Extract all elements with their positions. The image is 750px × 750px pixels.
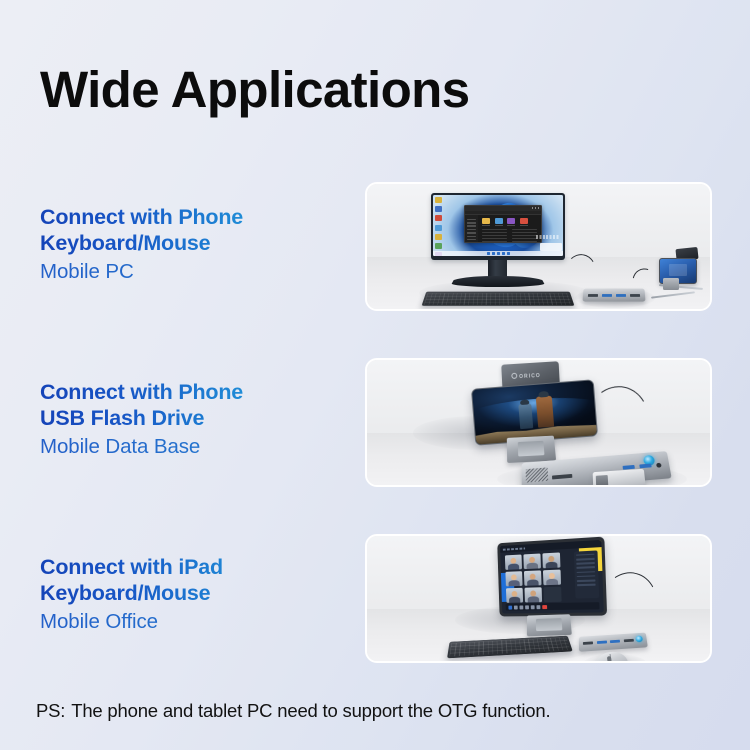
chat-line bbox=[577, 571, 596, 573]
chat-line bbox=[577, 575, 596, 577]
avatar bbox=[549, 572, 556, 578]
keyboard-keys bbox=[424, 293, 572, 305]
participant-body bbox=[546, 561, 558, 568]
file-row bbox=[512, 235, 537, 236]
file-column bbox=[482, 229, 507, 242]
folder-label bbox=[520, 225, 528, 226]
participant-body bbox=[527, 579, 539, 586]
activate-windows-watermark bbox=[536, 235, 560, 239]
file-explorer-window[interactable] bbox=[464, 205, 542, 243]
feature-3-line1: Connect with iPad bbox=[40, 554, 360, 580]
participant-tile[interactable] bbox=[543, 570, 561, 586]
avatar bbox=[529, 556, 535, 562]
feature-text-block-2: Connect with Phone USB Flash Drive Mobil… bbox=[40, 379, 360, 460]
footnote: PS:The phone and tablet PC need to suppo… bbox=[36, 700, 550, 722]
folder-label bbox=[495, 225, 503, 226]
participant-body bbox=[527, 562, 539, 569]
desktop-icon bbox=[435, 206, 442, 212]
tablet-stand bbox=[527, 614, 572, 636]
end-call-icon[interactable] bbox=[542, 605, 547, 608]
hub-port-audio-jack bbox=[656, 462, 662, 467]
folder-item[interactable] bbox=[507, 218, 515, 226]
chat-line bbox=[577, 562, 596, 564]
tablet-screen bbox=[500, 540, 603, 613]
desktop-icon bbox=[435, 225, 442, 231]
participant-body bbox=[546, 578, 558, 585]
participant-body bbox=[528, 596, 540, 603]
feature-2-subtitle: Mobile Data Base bbox=[40, 433, 360, 460]
more-options-icon[interactable] bbox=[537, 605, 540, 608]
sidebar-entry bbox=[467, 239, 476, 241]
character-figure bbox=[518, 403, 533, 429]
file-row bbox=[482, 238, 507, 239]
hub-port-hdmi bbox=[583, 641, 593, 645]
window-titlebar bbox=[465, 206, 541, 211]
explorer-sidebar[interactable] bbox=[465, 215, 478, 242]
folder-item[interactable] bbox=[495, 218, 503, 226]
keyboard[interactable] bbox=[422, 292, 575, 306]
participant-tile[interactable] bbox=[524, 554, 542, 570]
participant-body bbox=[509, 580, 521, 587]
monitor-base bbox=[450, 276, 546, 287]
avatar bbox=[511, 574, 517, 580]
sidebar-entry bbox=[467, 236, 476, 238]
file-row bbox=[512, 241, 537, 242]
folder-label bbox=[482, 225, 490, 226]
file-row bbox=[482, 229, 507, 230]
folder-icon bbox=[520, 218, 528, 224]
file-row bbox=[512, 238, 537, 239]
participant-tile[interactable] bbox=[525, 587, 543, 602]
hub-port-usb3 bbox=[639, 464, 651, 469]
stand-foot bbox=[663, 278, 679, 290]
avatar bbox=[510, 557, 516, 563]
folder-icon bbox=[507, 218, 515, 224]
feature-2-line1: Connect with Phone bbox=[40, 379, 360, 405]
desktop-icon bbox=[435, 215, 442, 221]
taskbar-start-icon[interactable] bbox=[487, 252, 490, 255]
participant-body bbox=[508, 563, 520, 570]
share-screen-icon[interactable] bbox=[531, 605, 534, 608]
chat-line bbox=[576, 553, 594, 556]
chat-line bbox=[577, 566, 596, 568]
desktop-icon bbox=[435, 243, 442, 249]
taskbar-search-icon[interactable] bbox=[492, 252, 495, 255]
feature-1-subtitle: Mobile PC bbox=[40, 258, 360, 285]
hub-port-hdmi bbox=[588, 294, 599, 297]
feature-text-block-1: Connect with Phone Keyboard/Mouse Mobile… bbox=[40, 204, 360, 285]
participant-tile-empty[interactable] bbox=[544, 587, 562, 602]
windows-taskbar[interactable] bbox=[433, 251, 563, 256]
participant-tile[interactable] bbox=[506, 588, 523, 603]
orico-brand-logo: ORICO bbox=[511, 371, 541, 380]
sidebar-entry bbox=[467, 232, 476, 234]
folder-item[interactable] bbox=[520, 218, 528, 226]
feature-3-subtitle: Mobile Office bbox=[40, 608, 360, 635]
footnote-prefix: PS: bbox=[36, 700, 65, 721]
avatar bbox=[512, 590, 518, 596]
explorer-content bbox=[478, 215, 541, 242]
system-tray-popup bbox=[540, 243, 562, 251]
phone-stand-base bbox=[507, 436, 556, 463]
mic-icon[interactable] bbox=[509, 606, 512, 609]
file-row bbox=[482, 241, 507, 242]
participant-body bbox=[509, 596, 521, 603]
feature-image-panel-1 bbox=[365, 182, 712, 311]
scene-monitor-desk bbox=[367, 184, 710, 309]
monitor-neck bbox=[488, 260, 507, 278]
feature-1-line2: Keyboard/Mouse bbox=[40, 230, 360, 256]
hub-ports bbox=[588, 293, 640, 297]
video-call-toolbar[interactable] bbox=[506, 602, 600, 610]
feature-image-panel-2: ORICO bbox=[365, 358, 712, 487]
hub-port-usb3 bbox=[597, 641, 607, 645]
desktop-icon bbox=[435, 234, 442, 240]
feature-3-line2: Keyboard/Mouse bbox=[40, 580, 360, 606]
sd-card-slot bbox=[552, 474, 572, 479]
footnote-text: The phone and tablet PC need to support … bbox=[71, 700, 550, 721]
file-row bbox=[482, 235, 507, 236]
desktop-icons bbox=[435, 197, 444, 256]
sidebar-entry bbox=[467, 222, 476, 224]
avatar bbox=[530, 590, 536, 596]
monitor-display bbox=[431, 193, 565, 260]
sidebar-entry bbox=[467, 229, 476, 231]
hub-port-usb3 bbox=[616, 294, 626, 297]
chat-panel[interactable] bbox=[574, 551, 599, 599]
hub-port-usb3 bbox=[602, 294, 612, 297]
feature-2-line2: USB Flash Drive bbox=[40, 405, 360, 431]
sidebar-entry bbox=[467, 225, 476, 227]
hub-vent-grill bbox=[526, 467, 548, 482]
feature-text-block-3: Connect with iPad Keyboard/Mouse Mobile … bbox=[40, 554, 360, 635]
page-title: Wide Applications bbox=[40, 62, 469, 117]
game-screen-content bbox=[472, 380, 597, 444]
taskbar-app-icon[interactable] bbox=[502, 252, 505, 255]
chat-line bbox=[577, 584, 596, 586]
taskbar-app-icon[interactable] bbox=[507, 252, 510, 255]
folder-icon bbox=[495, 218, 503, 224]
avatar bbox=[548, 555, 555, 561]
participant-tile[interactable] bbox=[506, 571, 523, 586]
file-column bbox=[512, 229, 537, 242]
hub-port-usb3 bbox=[610, 640, 620, 644]
tablet-device bbox=[497, 537, 607, 617]
avatar bbox=[530, 573, 536, 579]
usb-flash-drive bbox=[593, 469, 646, 487]
folder-label bbox=[507, 225, 515, 226]
desktop-icon bbox=[435, 197, 442, 203]
chat-line bbox=[576, 558, 594, 561]
scene-phone-hub-usb: ORICO bbox=[367, 360, 710, 485]
window-body bbox=[465, 215, 541, 242]
character-figure bbox=[536, 396, 554, 428]
participant-grid bbox=[505, 553, 562, 603]
participant-tile[interactable] bbox=[543, 553, 561, 569]
file-row bbox=[512, 229, 537, 230]
sidebar-entry bbox=[467, 219, 476, 221]
participant-tile[interactable] bbox=[505, 555, 522, 570]
feature-image-panel-3 bbox=[365, 534, 712, 663]
file-list bbox=[480, 228, 539, 242]
file-row bbox=[512, 232, 537, 233]
participant-tile[interactable] bbox=[524, 571, 542, 586]
monitor-screen bbox=[433, 195, 563, 256]
chat-line bbox=[577, 579, 596, 581]
chat-icon[interactable] bbox=[525, 605, 528, 608]
folder-icon bbox=[482, 218, 490, 224]
folder-item[interactable] bbox=[482, 218, 490, 226]
file-row bbox=[482, 232, 507, 233]
promo-page: Wide Applications Connect with Phone Key… bbox=[0, 0, 750, 750]
scene-ipad-office bbox=[367, 536, 710, 661]
feature-1-line1: Connect with Phone bbox=[40, 204, 360, 230]
folder-row bbox=[480, 217, 539, 228]
taskbar-app-icon[interactable] bbox=[497, 252, 500, 255]
participants-icon[interactable] bbox=[520, 606, 523, 609]
camera-icon[interactable] bbox=[514, 606, 517, 609]
